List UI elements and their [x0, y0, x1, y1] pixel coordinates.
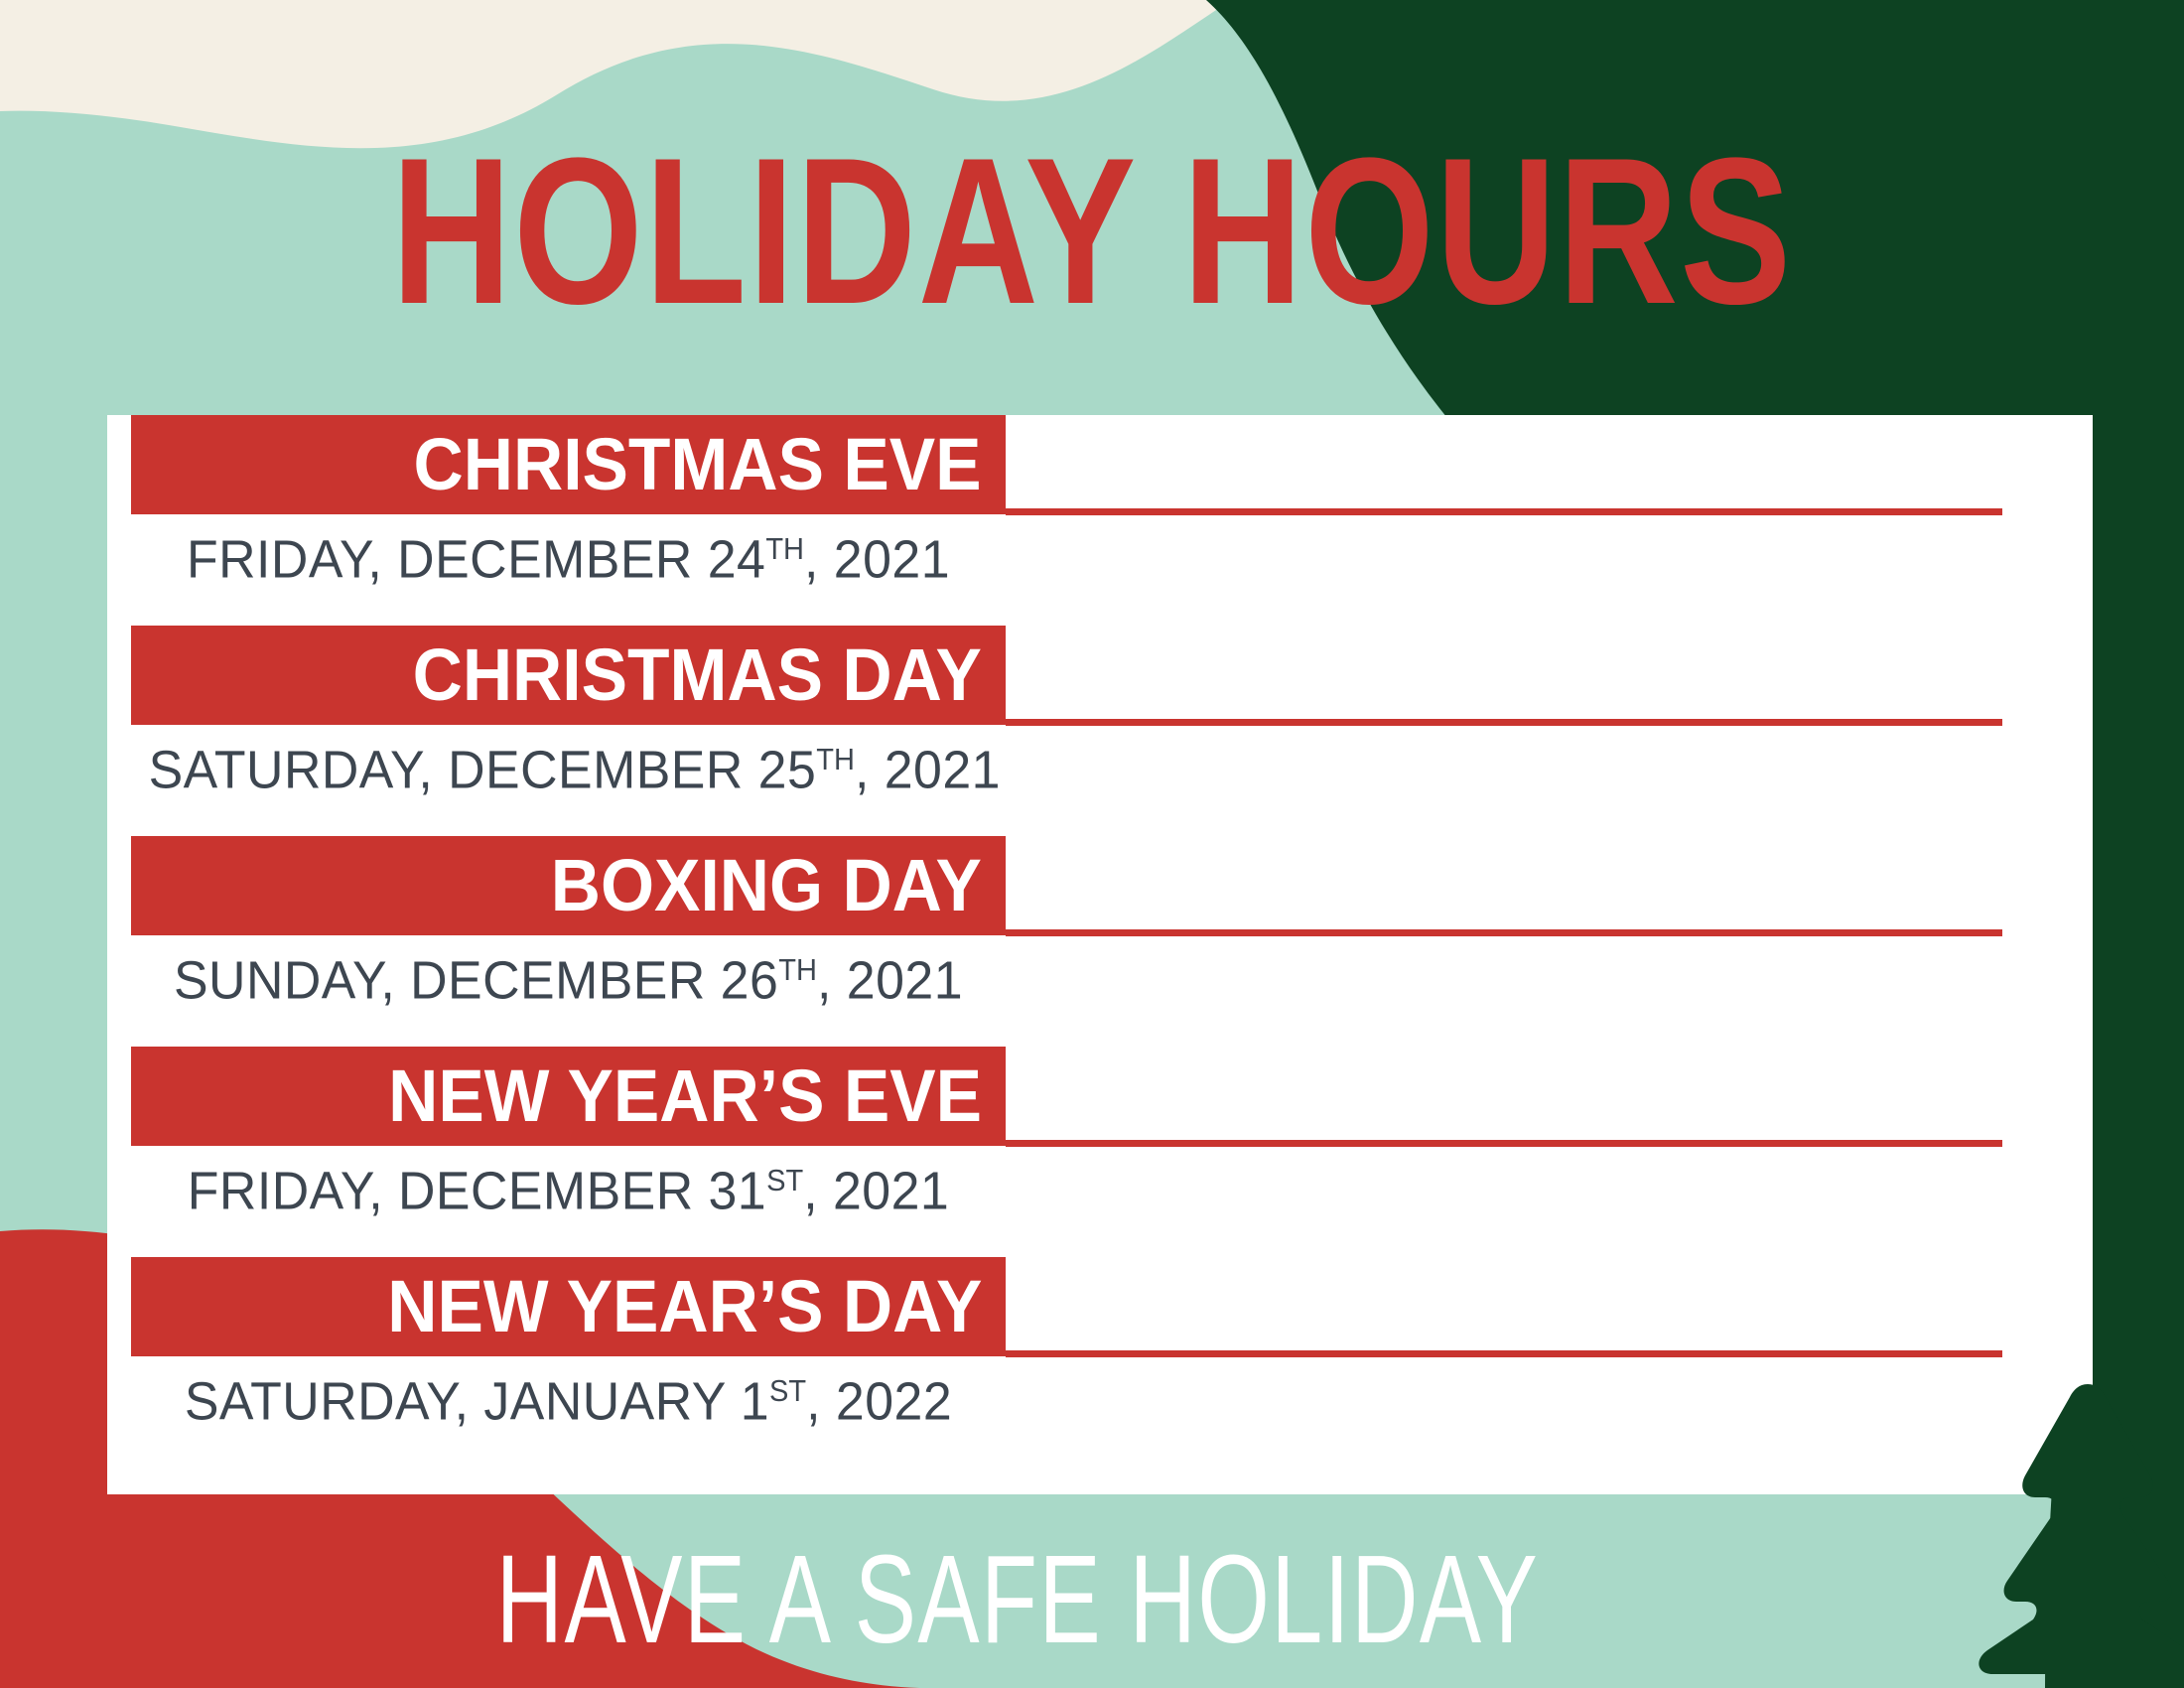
date-prefix: SATURDAY, JANUARY 1	[185, 1372, 769, 1432]
date-suffix: , 2022	[806, 1372, 952, 1432]
holiday-name: BOXING DAY	[551, 849, 982, 922]
holiday-date: FRIDAY, DECEMBER 31ST, 2021	[149, 1150, 989, 1223]
holiday-name: CHRISTMAS DAY	[413, 638, 982, 712]
hours-rule	[1006, 929, 2002, 936]
date-ordinal: TH	[778, 954, 817, 987]
holiday-date: FRIDAY, DECEMBER 24TH, 2021	[149, 518, 989, 592]
hours-row: CHRISTMAS DAY SATURDAY, DECEMBER 25TH, 2…	[107, 626, 2093, 796]
date-prefix: SATURDAY, DECEMBER 25	[149, 741, 817, 800]
date-ordinal: TH	[816, 744, 855, 776]
hours-row: CHRISTMAS EVE FRIDAY, DECEMBER 24TH, 202…	[107, 415, 2093, 586]
holiday-hours-poster: HOLIDAY HOURS CHRISTMAS EVE FRIDAY, DECE…	[0, 0, 2184, 1688]
holiday-name: NEW YEAR’S DAY	[387, 1270, 982, 1343]
date-prefix: FRIDAY, DECEMBER 24	[187, 530, 765, 590]
date-ordinal: ST	[769, 1375, 806, 1408]
hours-row: NEW YEAR’S DAY SATURDAY, JANUARY 1ST, 20…	[107, 1257, 2093, 1428]
holiday-banner: CHRISTMAS EVE	[131, 415, 1006, 514]
hours-card: CHRISTMAS EVE FRIDAY, DECEMBER 24TH, 202…	[107, 415, 2093, 1494]
holiday-banner: BOXING DAY	[131, 836, 1006, 935]
hours-rule	[1006, 1350, 2002, 1357]
date-suffix: , 2021	[804, 530, 950, 590]
date-suffix: , 2021	[817, 951, 963, 1011]
date-suffix: , 2021	[803, 1162, 949, 1221]
footer-message: HAVE A SAFE HOLIDAY	[265, 1537, 1771, 1662]
holiday-date: SATURDAY, DECEMBER 25TH, 2021	[149, 729, 989, 802]
date-prefix: FRIDAY, DECEMBER 31	[188, 1162, 766, 1221]
holiday-name: NEW YEAR’S EVE	[388, 1059, 982, 1133]
hours-rule	[1006, 1140, 2002, 1147]
date-suffix: , 2021	[855, 741, 1001, 800]
holiday-banner: NEW YEAR’S DAY	[131, 1257, 1006, 1356]
holiday-date: SATURDAY, JANUARY 1ST, 2022	[149, 1360, 989, 1434]
hours-rule	[1006, 508, 2002, 515]
holiday-date: SUNDAY, DECEMBER 26TH, 2021	[149, 939, 989, 1013]
date-prefix: SUNDAY, DECEMBER 26	[174, 951, 778, 1011]
hours-rule	[1006, 719, 2002, 726]
page-title: HOLIDAY HOURS	[218, 127, 1966, 336]
date-ordinal: TH	[765, 533, 804, 566]
date-ordinal: ST	[766, 1165, 803, 1197]
holiday-banner: NEW YEAR’S EVE	[131, 1047, 1006, 1146]
holiday-banner: CHRISTMAS DAY	[131, 626, 1006, 725]
hours-row: NEW YEAR’S EVE FRIDAY, DECEMBER 31ST, 20…	[107, 1047, 2093, 1217]
holiday-name: CHRISTMAS EVE	[414, 428, 982, 501]
hours-row: BOXING DAY SUNDAY, DECEMBER 26TH, 2021	[107, 836, 2093, 1007]
christmas-tree-icon	[1964, 1380, 2184, 1688]
